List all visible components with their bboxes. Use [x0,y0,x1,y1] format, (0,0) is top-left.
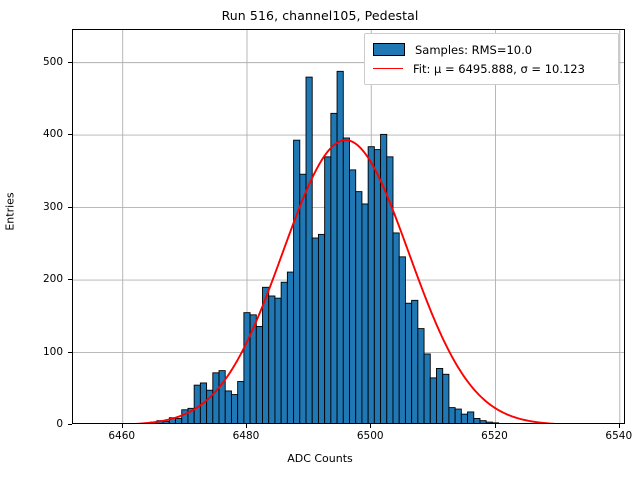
chart-svg [73,30,625,424]
histogram-bar [213,373,219,424]
x-tick-label: 6460 [82,430,162,442]
y-tick-mark [68,424,72,425]
histogram-bar [449,408,455,424]
x-axis-label: ADC Counts [0,452,640,465]
histogram-bar [300,174,306,424]
histogram-bar [455,409,461,424]
histogram-bar [368,147,374,424]
histogram-bar [393,233,399,424]
histogram-bar [176,418,182,424]
histogram-bar [312,238,318,424]
legend-swatch-bar-icon [373,43,405,56]
histogram-bar [225,391,231,424]
histogram-bar [405,303,411,424]
legend-item-samples: Samples: RMS=10.0 [373,40,610,59]
x-tick-label: 6480 [206,430,286,442]
histogram-bar [281,282,287,424]
histogram-bar [468,412,474,424]
histogram-bar [231,395,237,424]
x-tick-mark [246,424,247,428]
histogram-bar [443,374,449,424]
y-tick-label: 100 [3,346,63,358]
legend-label-fit: Fit: μ = 6495.888, σ = 10.123 [413,62,585,76]
histogram-bar [436,368,442,424]
histogram-bar [381,134,387,424]
page-title: Run 516, channel105, Pedestal [0,8,640,23]
histogram-bar [194,385,200,424]
histogram-bar [294,140,300,424]
y-tick-label: 0 [3,418,63,430]
histogram-bar [275,298,281,424]
histogram-bar [331,113,337,424]
histogram-bar [474,418,480,424]
histogram-bar [418,329,424,424]
histogram-bar [182,410,188,424]
histogram-bar [492,423,498,424]
y-tick-mark [68,279,72,280]
x-tick-mark [370,424,371,428]
x-tick-label: 6520 [455,430,535,442]
histogram-bar [269,296,275,424]
y-tick-mark [68,134,72,135]
histogram-bar [424,354,430,424]
histogram-bar [350,170,356,424]
histogram-bar [163,421,169,424]
chart-legend: Samples: RMS=10.0 Fit: μ = 6495.888, σ =… [364,33,619,85]
x-tick-label: 6500 [330,430,410,442]
histogram-bar [362,204,368,424]
histogram-bar [287,272,293,424]
y-axis-label: Entries [4,112,17,312]
histogram-bar [263,287,269,424]
histogram-bar [244,313,250,424]
histogram-bar [412,300,418,424]
histogram-bar [256,326,262,424]
histogram-bar [238,382,244,424]
histogram-bar [325,157,331,424]
histogram-bar [343,138,349,424]
x-tick-mark [495,424,496,428]
histogram-bar [337,71,343,424]
histogram-bar [430,378,436,424]
y-tick-mark [68,62,72,63]
legend-item-fit: Fit: μ = 6495.888, σ = 10.123 [373,59,610,78]
histogram-bar [486,422,492,424]
y-tick-mark [68,352,72,353]
histogram-bar [374,150,380,424]
histogram-bar [461,414,467,424]
legend-swatch-line-icon [373,63,403,74]
histogram-bar [356,192,362,424]
y-tick-mark [68,207,72,208]
histogram-bar [318,234,324,424]
legend-label-samples: Samples: RMS=10.0 [415,43,532,57]
histogram-bars [151,71,536,424]
histogram-bar [219,371,225,424]
x-tick-mark [619,424,620,428]
histogram-bar [480,421,486,424]
histogram-bar [306,77,312,424]
x-tick-label: 6540 [579,430,640,442]
plot-area [72,29,625,424]
figure-canvas: Run 516, channel105, Pedestal 0100200300… [0,0,640,480]
histogram-bar [399,257,405,424]
x-tick-mark [122,424,123,428]
y-tick-label: 500 [3,56,63,68]
